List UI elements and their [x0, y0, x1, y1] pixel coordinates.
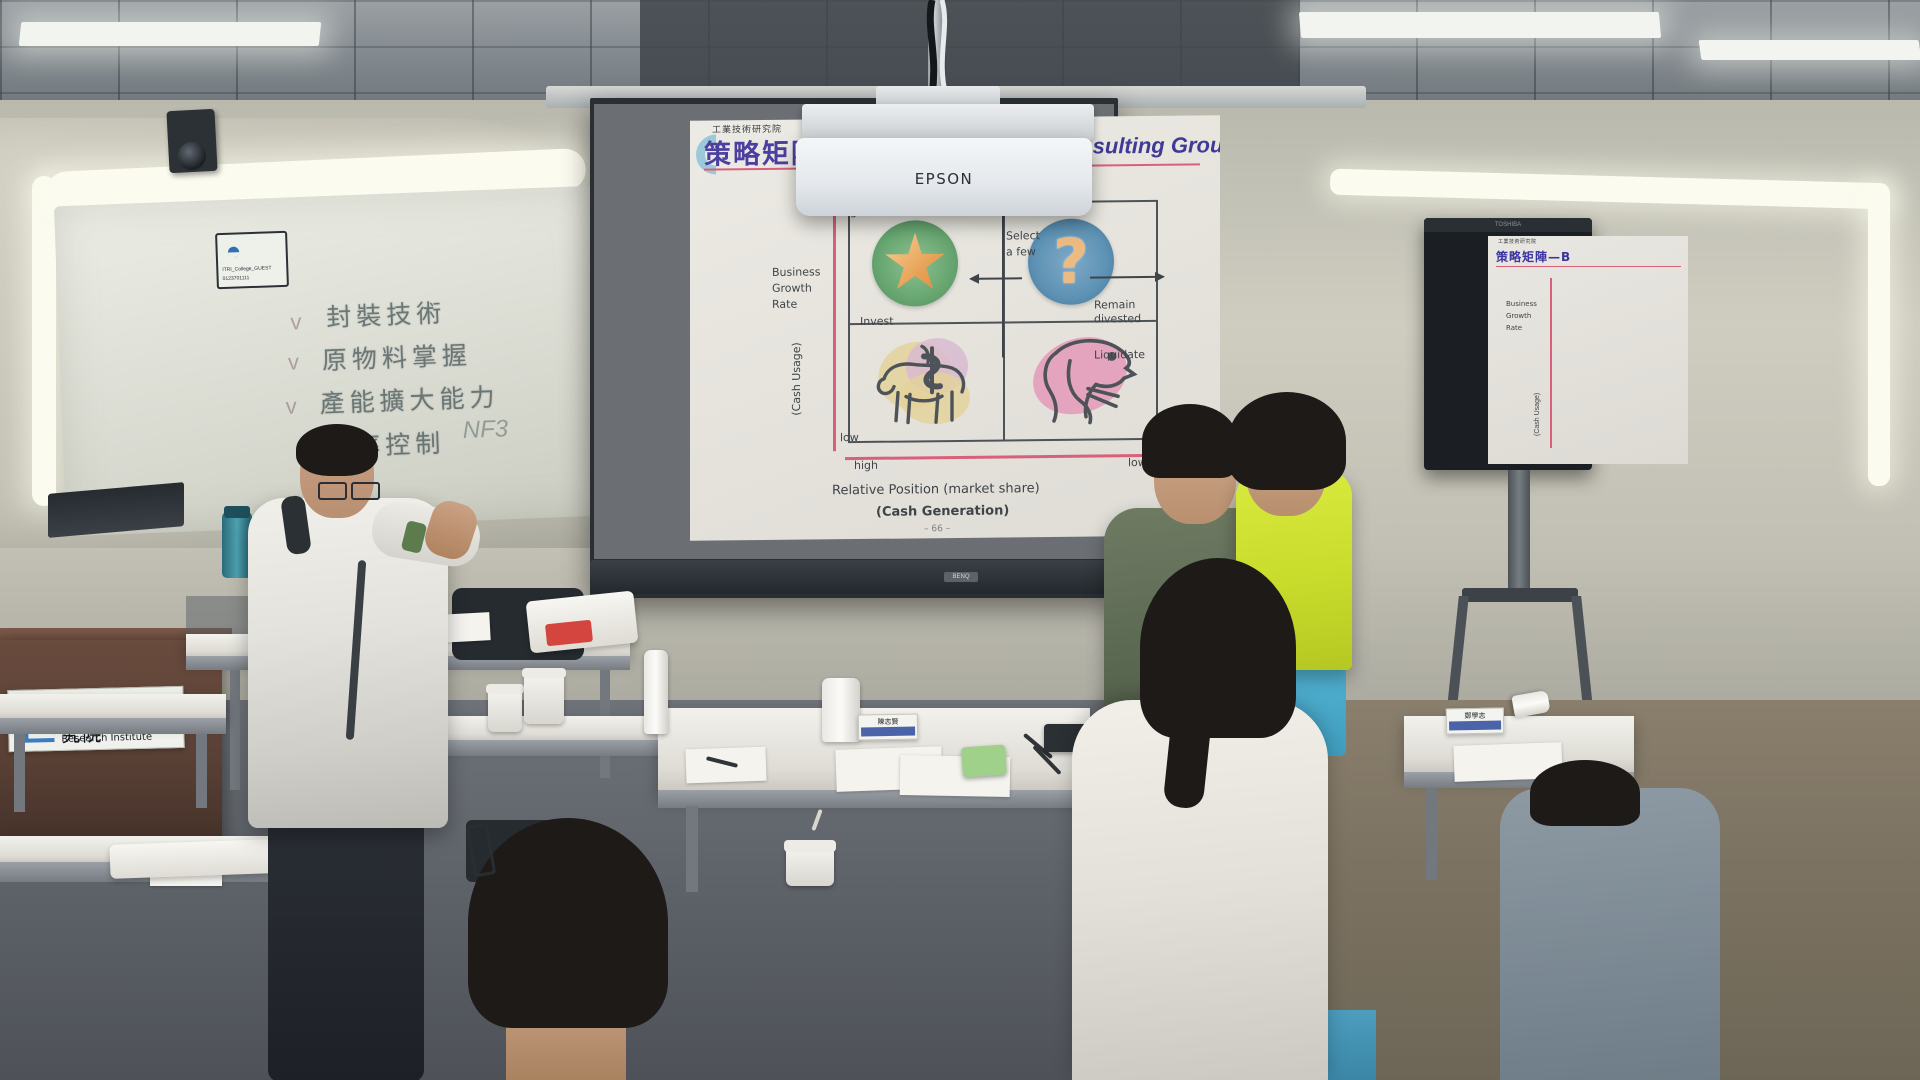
projector: EPSON — [796, 138, 1092, 216]
security-camera — [166, 109, 217, 173]
wifi-password: 0123701111 — [223, 274, 284, 283]
quadrant-label-remain-divested: Remain divested — [1094, 298, 1154, 327]
cow-line-art — [872, 336, 982, 429]
table-leg — [14, 734, 25, 812]
foreground-hair — [468, 818, 668, 1028]
table-leg — [1426, 788, 1437, 880]
slide-page-number: – 66 – — [924, 524, 950, 534]
room-photo: v v v 封裝技術 原物料掌握 產能擴大能力 良率控制 NF3 ◓ ITRI_… — [0, 0, 1920, 1080]
smartphone[interactable] — [961, 745, 1007, 778]
monitor-base — [1462, 588, 1578, 602]
water-bottle[interactable] — [644, 650, 668, 734]
star-icon — [872, 220, 958, 307]
cup-lid — [486, 684, 524, 694]
y-axis-label-1: Business — [772, 265, 821, 279]
table-edge — [428, 740, 658, 756]
x-axis-high-label: high — [854, 459, 878, 472]
side-monitor-y-sublabel: (Cash Usage) — [1534, 393, 1541, 436]
annotation-select-a-few-1: Select — [1006, 229, 1040, 242]
projector-brand-label: EPSON — [796, 170, 1092, 188]
dog-icon — [1026, 330, 1142, 427]
wifi-ssid: ITRI_College_GUEST — [222, 265, 283, 274]
screen-brand-plate: BENQ — [944, 572, 978, 582]
side-monitor-y-label-3: Rate — [1506, 324, 1522, 332]
nameplate-bar — [861, 727, 915, 737]
table-edge — [0, 718, 226, 734]
side-monitor-y-label-2: Growth — [1506, 312, 1531, 320]
cup-lid — [784, 840, 836, 852]
table-far-left — [0, 694, 226, 720]
led-strip — [32, 176, 56, 506]
quadrant-label-invest: Invest — [860, 315, 894, 328]
y-axis-label-3: Rate — [772, 298, 797, 311]
side-monitor-slide-org: 工業技術研究院 — [1498, 238, 1537, 245]
x-axis-sublabel: (Cash Generation) — [876, 503, 1009, 519]
far-right-body — [1500, 788, 1720, 1080]
coffee-cup[interactable] — [786, 846, 834, 886]
annotation-select-a-few-2: a few — [1006, 245, 1036, 258]
quadrant-label-liquidate: Liquidate — [1094, 348, 1145, 362]
wifi-info-card: ◓ ITRI_College_GUEST 0123701111 — [215, 231, 289, 289]
monitor-stand — [1508, 470, 1530, 590]
far-right-hair — [1530, 760, 1640, 826]
ceiling-light — [19, 22, 322, 46]
whiteboard-bullet: v — [285, 393, 297, 419]
whiteboard-bullet: v — [290, 309, 302, 335]
presenter-legs — [268, 800, 424, 1080]
table-leg — [686, 806, 698, 892]
cash-cow-icon — [872, 336, 982, 429]
paper-roll[interactable] — [109, 839, 272, 879]
arrow-vertical-icon — [1002, 205, 1004, 357]
screen-bottom-bar — [590, 560, 1118, 594]
water-bottle[interactable] — [822, 678, 860, 742]
presenter-hair — [296, 424, 378, 476]
whiteboard-line-3: 產能擴大能力 — [319, 378, 500, 421]
table-leg — [196, 734, 207, 808]
glasses-icon — [318, 482, 380, 496]
dog-line-art — [1026, 330, 1142, 427]
ceiling-light — [1299, 12, 1661, 38]
x-axis-label: Relative Position (market share) — [832, 481, 1040, 498]
projector-mount-arm — [802, 104, 1094, 140]
table-leg — [230, 670, 240, 790]
nameplate-bar — [1449, 721, 1501, 731]
x-axis-line — [845, 454, 1175, 460]
side-monitor-axis — [1550, 278, 1552, 448]
coffee-cup[interactable] — [524, 672, 564, 724]
led-strip — [1868, 186, 1890, 486]
y-axis-line — [833, 201, 836, 451]
table-edge — [658, 790, 1090, 808]
side-monitor-rule — [1496, 266, 1681, 267]
nameplate-right: 鄭學志 — [1446, 707, 1504, 734]
yellow-top-hair — [1228, 392, 1346, 490]
y-axis-label-2: Growth — [772, 281, 812, 294]
projector-cables — [906, 0, 962, 96]
whiteboard-bullet: v — [288, 349, 300, 375]
side-monitor-screen[interactable]: 工業技術研究院 策略矩陣—B Business Growth Rate (Cas… — [1488, 236, 1688, 464]
y-axis-sublabel: (Cash Usage) — [790, 342, 803, 416]
side-monitor-brand: TOSHIBA — [1424, 218, 1592, 232]
coffee-cup[interactable] — [488, 688, 522, 732]
whiteboard-line-2: 原物料掌握 — [321, 336, 472, 378]
wifi-icon: ◓ — [225, 237, 260, 264]
ponytail-hair — [1140, 558, 1296, 738]
whiteboard-line-1: 封裝技術 — [326, 294, 447, 335]
question-mark-icon — [1028, 218, 1114, 305]
nameplate-table: 陳志賢 — [858, 713, 918, 740]
green-shirt-hair — [1142, 404, 1238, 478]
side-monitor-y-label-1: Business — [1506, 300, 1537, 308]
whiteboard-annotation: NF3 — [462, 415, 508, 445]
side-monitor-slide-title: 策略矩陣—B — [1496, 248, 1571, 265]
thermos-cap — [224, 506, 250, 518]
ceiling-light — [1699, 40, 1920, 60]
cup-lid — [522, 668, 566, 678]
